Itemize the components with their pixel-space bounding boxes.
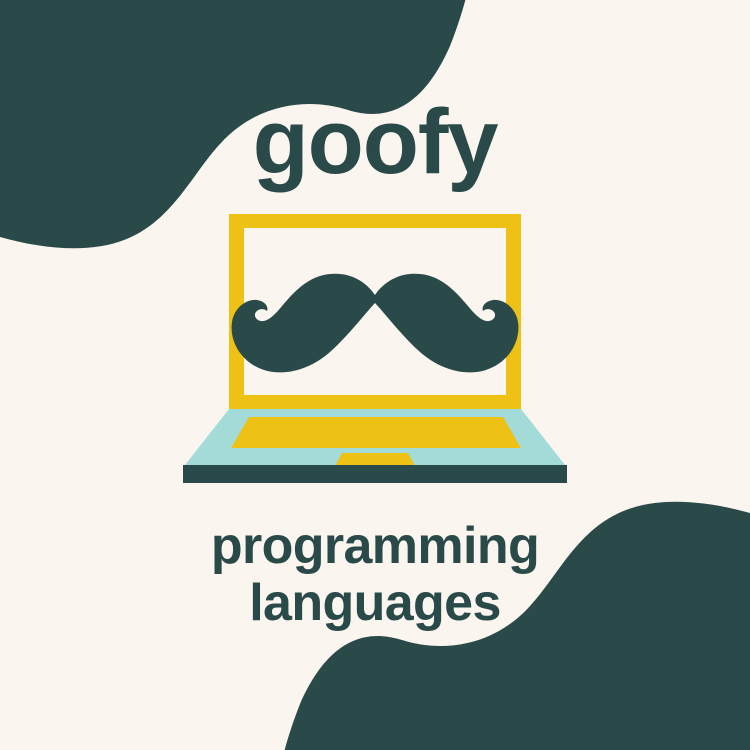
poster-headline: goofy: [0, 96, 750, 188]
caption-line-1: programming: [0, 518, 750, 575]
laptop-with-mustache-illustration: [180, 200, 570, 490]
poster-canvas: goofy programming languages: [0, 0, 750, 750]
laptop-keyboard-panel: [231, 417, 521, 448]
poster-caption: programming languages: [0, 518, 750, 631]
caption-line-2: languages: [0, 575, 750, 632]
laptop-foot-bar: [183, 465, 567, 483]
